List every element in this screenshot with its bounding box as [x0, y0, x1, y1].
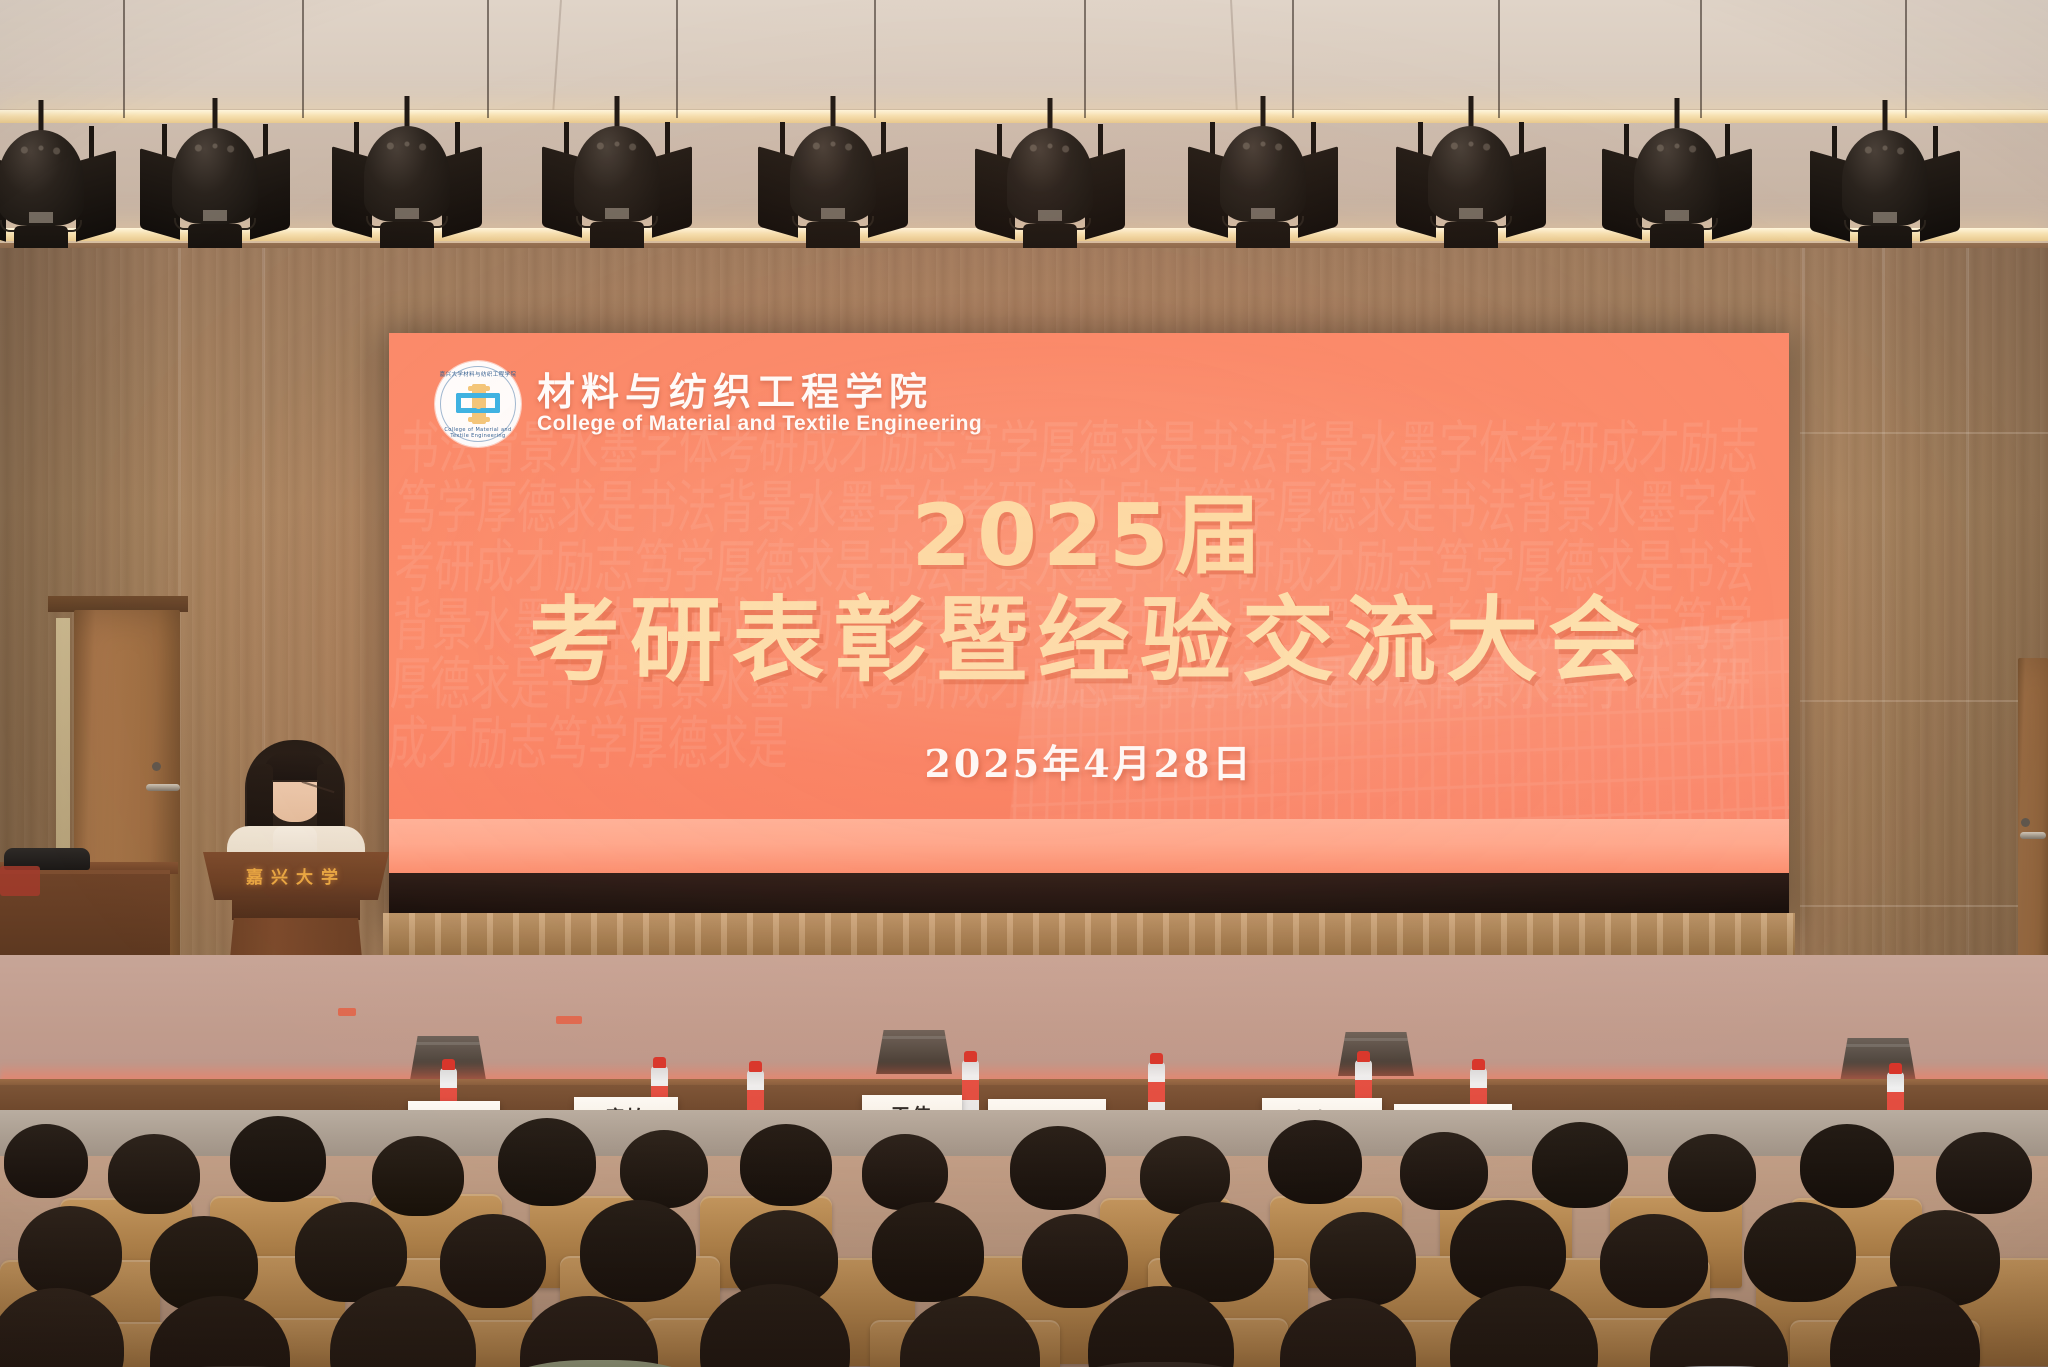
wall-joint-line	[1800, 905, 2048, 907]
college-crest-icon: 嘉兴大学材料与纺织工程学院 College of Material and Te…	[435, 361, 521, 447]
led-screen-content: 书法背景水墨字体考研成才励志笃学厚德求是书法背景水墨字体考研成才励志笃学厚德求是…	[389, 333, 1789, 873]
event-headline: 2025届 考研表彰暨经验交流大会 2025年4月28日	[389, 493, 1789, 788]
screen-bottom-band	[389, 819, 1789, 873]
event-date: 2025年4月28日	[389, 733, 1789, 788]
right-door-lock-icon	[2021, 818, 2030, 827]
right-door-handle-icon[interactable]	[2020, 832, 2046, 839]
college-name-en: College of Material and Textile Engineer…	[537, 412, 982, 436]
event-year: 2025届	[389, 493, 1789, 579]
college-logo-row: 嘉兴大学材料与纺织工程学院 College of Material and Te…	[435, 361, 982, 447]
wall-joint-line	[1800, 700, 2048, 702]
audience-head	[1800, 1124, 1894, 1208]
crest-top-text: 嘉兴大学材料与纺织工程学院	[435, 370, 521, 378]
ceiling-soffit	[0, 0, 2048, 110]
audience-head	[230, 1116, 326, 1202]
crest-bottom-text: College of Material and Textile Engineer…	[435, 427, 521, 439]
event-title: 考研表彰暨经验交流大会	[389, 593, 1789, 689]
light-hanger-cable	[302, 0, 304, 118]
audience-head	[1744, 1202, 1856, 1302]
podium-neck	[232, 898, 360, 920]
crest-monogram-icon	[454, 384, 502, 424]
audience-head	[872, 1202, 984, 1302]
audience-head	[1310, 1212, 1416, 1306]
audience-area	[0, 1110, 2048, 1367]
audience-head	[1936, 1132, 2032, 1214]
audience-head	[1268, 1120, 1362, 1204]
college-name-cn: 材料与纺织工程学院	[537, 372, 982, 412]
light-hanger-cable	[676, 0, 678, 118]
light-hanger-cable	[123, 0, 125, 118]
auditorium-scene: 书法背景水墨字体考研成才励志笃学厚德求是书法背景水墨字体考研成才励志笃学厚德求是…	[0, 0, 2048, 1367]
audience-head	[1668, 1134, 1756, 1212]
wall-joint-line	[1800, 432, 2048, 434]
audience-head	[1400, 1132, 1488, 1210]
stage-apron-gold-panel	[383, 913, 1795, 959]
floor-marker-tape	[556, 1016, 582, 1024]
audience-head	[580, 1200, 696, 1302]
audience-head	[18, 1206, 122, 1298]
audience-head	[1600, 1214, 1708, 1308]
left-door-lock-icon	[152, 762, 161, 771]
floor-marker-tape	[338, 1008, 356, 1016]
left-door-handle-icon[interactable]	[146, 784, 180, 791]
screen-bottom-bezel	[389, 873, 1789, 913]
audience-head	[4, 1124, 88, 1198]
audience-head	[372, 1136, 464, 1216]
audience-head	[862, 1134, 948, 1210]
water-bottle	[962, 1060, 979, 1116]
podium-university-name: 嘉兴大学	[203, 863, 389, 888]
college-titles: 材料与纺织工程学院 College of Material and Textil…	[537, 372, 982, 437]
audience-head	[1532, 1122, 1628, 1208]
audience-head	[620, 1130, 708, 1208]
audience-head	[1010, 1126, 1106, 1210]
audience-head	[740, 1124, 832, 1206]
led-screen-frame: 书法背景水墨字体考研成才励志笃学厚德求是书法背景水墨字体考研成才励志笃学厚德求是…	[389, 333, 1789, 913]
audience-head	[498, 1118, 596, 1206]
audience-head	[108, 1134, 200, 1214]
light-hanger-cable	[487, 0, 489, 118]
audience-head	[440, 1214, 546, 1308]
audience-head	[1022, 1214, 1128, 1308]
table-object	[0, 866, 40, 896]
speaker-person	[205, 740, 385, 870]
